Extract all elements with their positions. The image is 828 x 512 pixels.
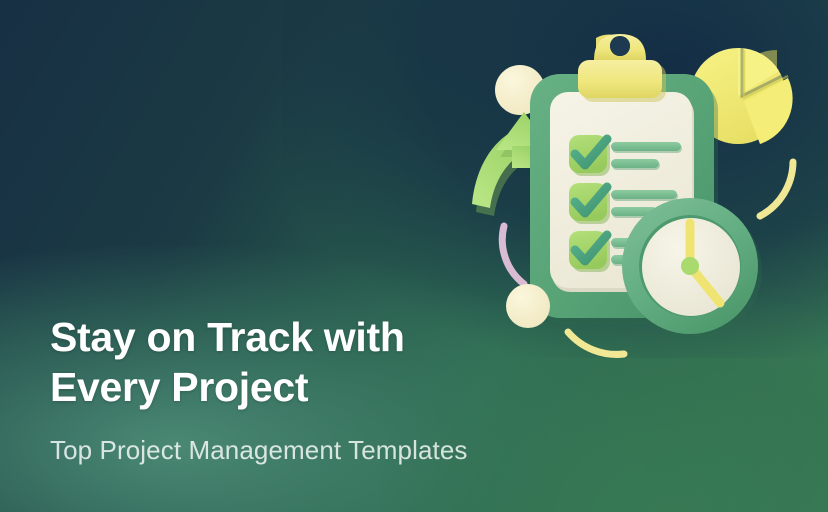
headline-line-1: Stay on Track with	[50, 312, 610, 362]
page-title: Stay on Track with Every Project	[50, 312, 610, 412]
yellow-arc-right	[760, 162, 793, 216]
promo-banner: Stay on Track with Every Project Top Pro…	[0, 0, 828, 512]
text-block: Stay on Track with Every Project Top Pro…	[50, 312, 610, 466]
headline-line-2: Every Project	[50, 362, 610, 412]
page-subtitle: Top Project Management Templates	[50, 434, 610, 466]
lavender-arc-left	[502, 226, 524, 284]
clipboard-clip-icon	[578, 34, 666, 102]
